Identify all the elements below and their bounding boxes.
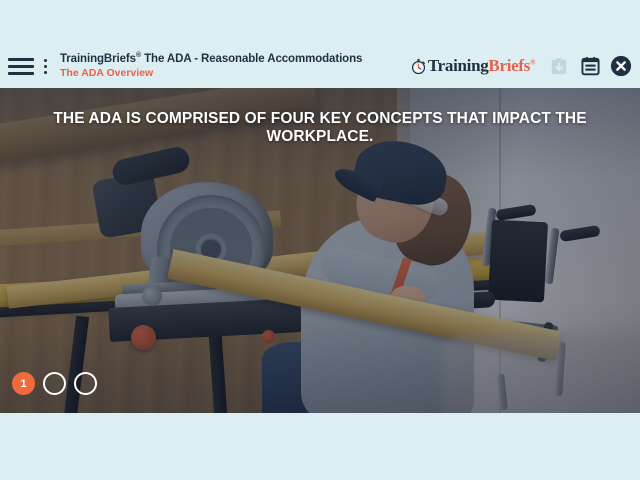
download-icon [548, 55, 570, 77]
logo-word-training: Training [428, 56, 489, 75]
more-options-icon[interactable] [38, 55, 52, 77]
course-title-brand: TrainingBriefs [60, 53, 136, 65]
header-actions: TrainingBriefs® [410, 55, 632, 77]
notes-glyph [581, 56, 600, 76]
kebab-dot [44, 59, 47, 62]
slide-headline: THE ADA IS COMPRISED OF FOUR KEY CONCEPT… [0, 110, 640, 146]
close-icon[interactable] [610, 55, 632, 77]
close-glyph [610, 55, 632, 77]
pagination-dot-2[interactable]: 2 [43, 372, 66, 395]
stopwatch-icon [410, 58, 427, 75]
pagination-dot-3[interactable]: 3 [74, 372, 97, 395]
course-player: TrainingBriefs® The ADA - Reasonable Acc… [0, 0, 640, 480]
slide-stage[interactable]: THE ADA IS COMPRISED OF FOUR KEY CONCEPT… [0, 88, 640, 413]
player-header: TrainingBriefs® The ADA - Reasonable Acc… [0, 44, 640, 88]
hamburger-line [8, 72, 34, 75]
kebab-dot [44, 71, 47, 74]
trainingbriefs-logo: TrainingBriefs® [410, 56, 535, 76]
pagination-dot-1[interactable]: 1 [12, 372, 35, 395]
hamburger-menu-icon[interactable] [6, 55, 36, 77]
course-title-rest: The ADA - Reasonable Accommodations [141, 53, 362, 65]
logo-word-briefs: Briefs [488, 56, 530, 75]
lesson-title: The ADA Overview [60, 67, 410, 79]
course-title: TrainingBriefs® The ADA - Reasonable Acc… [60, 53, 410, 67]
header-titles: TrainingBriefs® The ADA - Reasonable Acc… [60, 53, 410, 80]
slide-pagination: 1 2 3 [12, 372, 97, 395]
logo-registered-mark: ® [530, 58, 535, 66]
logo-wordmark: TrainingBriefs® [428, 56, 535, 76]
notes-icon[interactable] [579, 55, 601, 77]
hamburger-line [8, 65, 34, 68]
download-glyph [550, 57, 568, 76]
kebab-dot [44, 65, 47, 68]
hamburger-line [8, 58, 34, 61]
